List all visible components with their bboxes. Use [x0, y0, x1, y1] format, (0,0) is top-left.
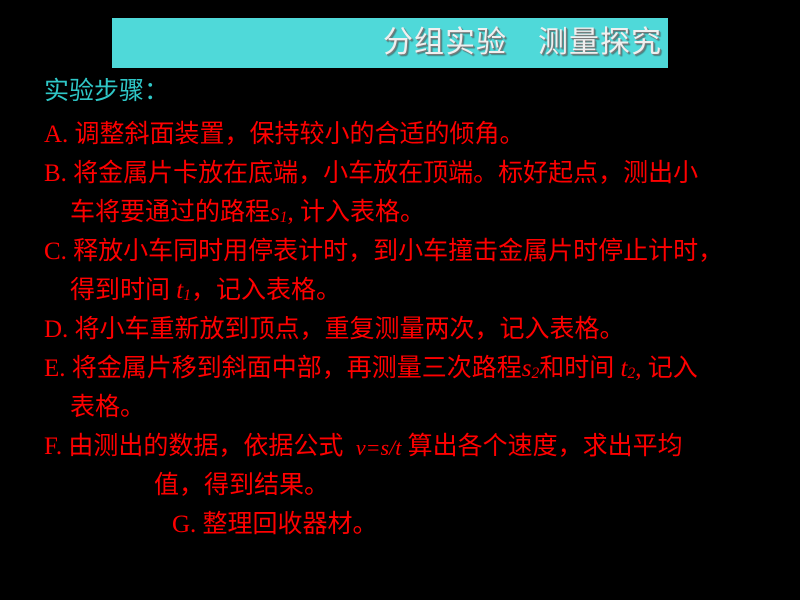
math-variable: s	[270, 200, 280, 225]
text-run: , 计入表格。	[288, 200, 426, 225]
math-variable: t	[621, 356, 628, 381]
text-run: B. 将金属片卡放在底端，小车放在顶端。标好起点，测出小	[44, 161, 698, 186]
text-run: C. 释放小车同时用停表计时，到小车撞击金属片时停止计时，	[44, 239, 723, 264]
text-run: 算出各个速度，求出平均	[401, 434, 682, 459]
step-c: C. 释放小车同时用停表计时，到小车撞击金属片时停止计时，	[44, 227, 794, 266]
presentation-slide: 分组实验 测量探究 实验步骤： A. 调整斜面装置，保持较小的合适的倾角。B. …	[0, 0, 800, 600]
text-run: 和时间	[539, 356, 620, 381]
text-run: ，记入表格。	[191, 278, 341, 303]
text-run: , 记入	[635, 356, 698, 381]
speed-formula: v=s/t	[356, 437, 401, 459]
slide-title: 分组实验 测量探究	[383, 28, 668, 58]
text-run: 值，得到结果。	[154, 473, 329, 498]
math-subscript: 2	[532, 366, 540, 382]
math-variable: s	[522, 356, 532, 381]
math-subscript: 1	[183, 288, 191, 304]
math-variable: t	[176, 278, 183, 303]
text-run: 车将要通过的路程	[70, 200, 270, 225]
step-e-cont1: 表格。	[44, 383, 794, 422]
step-e: E. 将金属片移到斜面中部，再测量三次路程s2和时间 t2, 记入	[44, 344, 794, 383]
text-run: F. 由测出的数据，依据公式	[44, 434, 356, 459]
math-subscript: 2	[627, 366, 635, 382]
text-run: 得到时间	[70, 278, 176, 303]
step-g: G. 整理回收器材。	[44, 500, 794, 539]
step-f-cont1: 值，得到结果。	[44, 461, 794, 500]
experiment-steps-heading: 实验步骤：	[44, 72, 794, 110]
text-run: D. 将小车重新放到顶点，重复测量两次，记入表格。	[44, 317, 625, 342]
slide-title-bar: 分组实验 测量探究	[112, 18, 668, 68]
experiment-steps-list: A. 调整斜面装置，保持较小的合适的倾角。B. 将金属片卡放在底端，小车放在顶端…	[44, 110, 794, 539]
text-run: A. 调整斜面装置，保持较小的合适的倾角。	[44, 122, 525, 147]
math-subscript: 1	[280, 210, 288, 226]
step-b: B. 将金属片卡放在底端，小车放在顶端。标好起点，测出小	[44, 149, 794, 188]
step-c-cont1: 得到时间 t1，记入表格。	[44, 266, 794, 305]
step-f: F. 由测出的数据，依据公式 v=s/t 算出各个速度，求出平均	[44, 422, 794, 461]
text-run: E. 将金属片移到斜面中部，再测量三次路程	[44, 356, 522, 381]
text-run: 表格。	[70, 395, 145, 420]
step-d: D. 将小车重新放到顶点，重复测量两次，记入表格。	[44, 305, 794, 344]
step-a: A. 调整斜面装置，保持较小的合适的倾角。	[44, 110, 794, 149]
slide-body: 实验步骤： A. 调整斜面装置，保持较小的合适的倾角。B. 将金属片卡放在底端，…	[44, 72, 794, 539]
step-b-cont1: 车将要通过的路程s1, 计入表格。	[44, 188, 794, 227]
text-run: G. 整理回收器材。	[172, 512, 378, 537]
